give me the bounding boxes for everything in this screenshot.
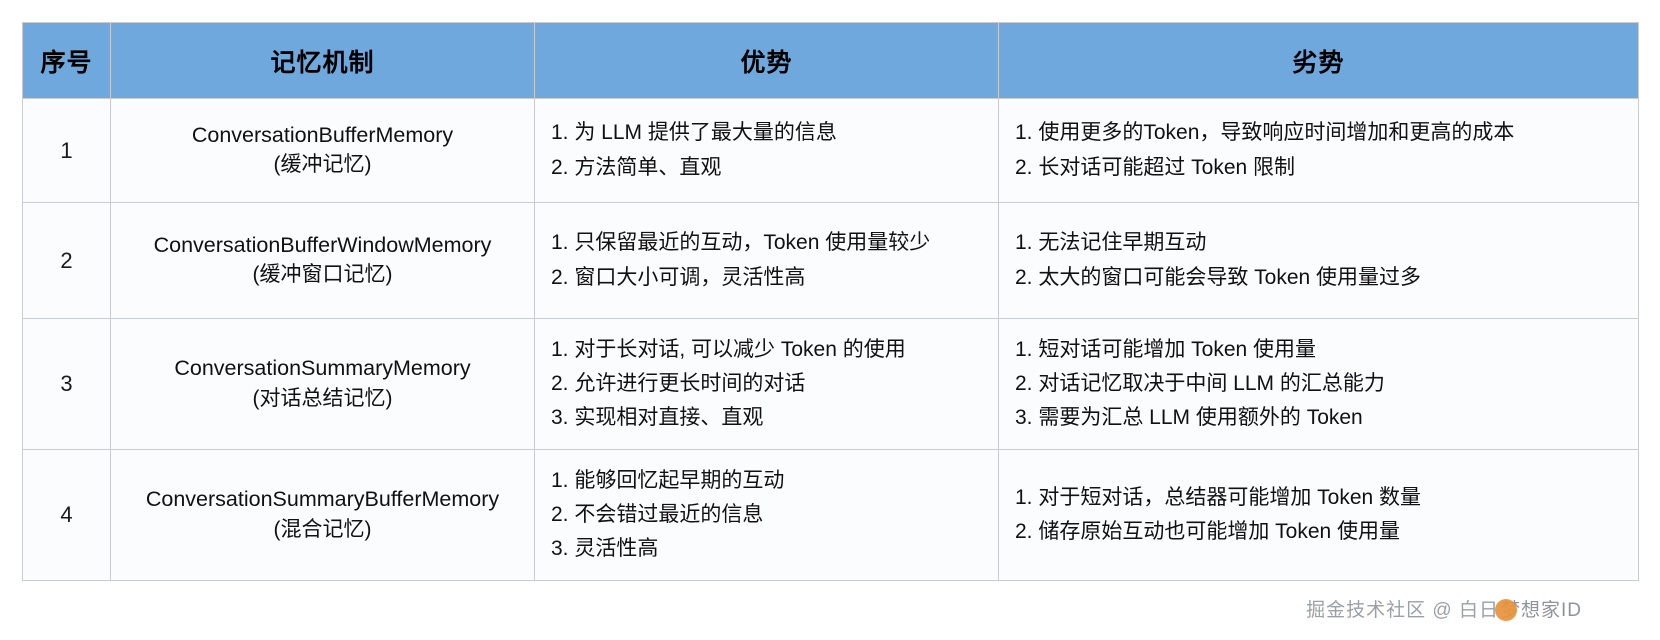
list-item: 2. 方法简单、直观	[551, 151, 982, 185]
list-item: 1. 短对话可能增加 Token 使用量	[1015, 333, 1622, 367]
row-index: 4	[23, 450, 111, 581]
mechanism-name-en: ConversationSummaryMemory	[119, 353, 526, 384]
mechanism-name-en: ConversationBufferMemory	[119, 120, 526, 151]
advantages-list: 1. 对于长对话, 可以减少 Token 的使用 2. 允许进行更长时间的对话 …	[551, 333, 982, 435]
table-header-row: 序号 记忆机制 优势 劣势	[23, 23, 1639, 99]
mechanism-name-cn: (对话总结记忆)	[119, 384, 526, 415]
table-row: 4 ConversationSummaryBufferMemory (混合记忆)…	[23, 450, 1639, 581]
memory-mechanism-table: 序号 记忆机制 优势 劣势 1 ConversationBufferMemory…	[22, 22, 1639, 581]
row-index: 1	[23, 99, 111, 203]
list-item: 3. 需要为汇总 LLM 使用额外的 Token	[1015, 401, 1622, 435]
mechanism-name-en: ConversationBufferWindowMemory	[119, 230, 526, 261]
list-item: 2. 窗口大小可调，灵活性高	[551, 261, 982, 295]
list-item: 1. 为 LLM 提供了最大量的信息	[551, 116, 982, 150]
list-item: 3. 灵活性高	[551, 532, 982, 566]
column-header-mechanism: 记忆机制	[111, 23, 535, 99]
advantages-list: 1. 能够回忆起早期的互动 2. 不会错过最近的信息 3. 灵活性高	[551, 464, 982, 566]
mechanism-name-en: ConversationSummaryBufferMemory	[119, 484, 526, 515]
watermark-prefix: 掘金技术社区 @ 白日	[1306, 595, 1499, 622]
list-item: 1. 无法记住早期互动	[1015, 226, 1622, 260]
row-disadvantages: 1. 无法记住早期互动 2. 太大的窗口可能会导致 Token 使用量过多	[999, 203, 1639, 319]
watermark-logo-icon	[1495, 599, 1517, 621]
table-row: 3 ConversationSummaryMemory (对话总结记忆) 1. …	[23, 319, 1639, 450]
column-header-disadvantages: 劣势	[999, 23, 1639, 99]
row-advantages: 1. 为 LLM 提供了最大量的信息 2. 方法简单、直观	[535, 99, 999, 203]
mechanism-name-cn: (混合记忆)	[119, 515, 526, 546]
mechanism-name-cn: (缓冲记忆)	[119, 150, 526, 181]
list-item: 1. 只保留最近的互动，Token 使用量较少	[551, 226, 982, 260]
row-index: 2	[23, 203, 111, 319]
table-body: 1 ConversationBufferMemory (缓冲记忆) 1. 为 L…	[23, 99, 1639, 581]
row-disadvantages: 1. 使用更多的Token，导致响应时间增加和更高的成本 2. 长对话可能超过 …	[999, 99, 1639, 203]
row-disadvantages: 1. 短对话可能增加 Token 使用量 2. 对话记忆取决于中间 LLM 的汇…	[999, 319, 1639, 450]
list-item: 2. 储存原始互动也可能增加 Token 使用量	[1015, 515, 1622, 549]
disadvantages-list: 1. 短对话可能增加 Token 使用量 2. 对话记忆取决于中间 LLM 的汇…	[1015, 333, 1622, 435]
row-index: 3	[23, 319, 111, 450]
table-page: 序号 记忆机制 优势 劣势 1 ConversationBufferMemory…	[0, 0, 1660, 640]
list-item: 2. 长对话可能超过 Token 限制	[1015, 151, 1622, 185]
list-item: 2. 不会错过最近的信息	[551, 498, 982, 532]
row-mechanism: ConversationSummaryMemory (对话总结记忆)	[111, 319, 535, 450]
watermark: 掘金技术社区 @ 白日 梦想家ID	[1306, 595, 1582, 622]
column-header-index: 序号	[23, 23, 111, 99]
disadvantages-list: 1. 使用更多的Token，导致响应时间增加和更高的成本 2. 长对话可能超过 …	[1015, 116, 1622, 184]
table-row: 2 ConversationBufferWindowMemory (缓冲窗口记忆…	[23, 203, 1639, 319]
row-mechanism: ConversationBufferWindowMemory (缓冲窗口记忆)	[111, 203, 535, 319]
table-row: 1 ConversationBufferMemory (缓冲记忆) 1. 为 L…	[23, 99, 1639, 203]
row-advantages: 1. 只保留最近的互动，Token 使用量较少 2. 窗口大小可调，灵活性高	[535, 203, 999, 319]
list-item: 2. 太大的窗口可能会导致 Token 使用量过多	[1015, 261, 1622, 295]
advantages-list: 1. 只保留最近的互动，Token 使用量较少 2. 窗口大小可调，灵活性高	[551, 226, 982, 294]
disadvantages-list: 1. 无法记住早期互动 2. 太大的窗口可能会导致 Token 使用量过多	[1015, 226, 1622, 294]
row-advantages: 1. 能够回忆起早期的互动 2. 不会错过最近的信息 3. 灵活性高	[535, 450, 999, 581]
table-header: 序号 记忆机制 优势 劣势	[23, 23, 1639, 99]
row-mechanism: ConversationSummaryBufferMemory (混合记忆)	[111, 450, 535, 581]
row-advantages: 1. 对于长对话, 可以减少 Token 的使用 2. 允许进行更长时间的对话 …	[535, 319, 999, 450]
list-item: 3. 实现相对直接、直观	[551, 401, 982, 435]
list-item: 1. 对于长对话, 可以减少 Token 的使用	[551, 333, 982, 367]
advantages-list: 1. 为 LLM 提供了最大量的信息 2. 方法简单、直观	[551, 116, 982, 184]
list-item: 1. 对于短对话，总结器可能增加 Token 数量	[1015, 481, 1622, 515]
mechanism-name-cn: (缓冲窗口记忆)	[119, 260, 526, 291]
list-item: 2. 对话记忆取决于中间 LLM 的汇总能力	[1015, 367, 1622, 401]
list-item: 1. 能够回忆起早期的互动	[551, 464, 982, 498]
column-header-advantages: 优势	[535, 23, 999, 99]
list-item: 2. 允许进行更长时间的对话	[551, 367, 982, 401]
row-disadvantages: 1. 对于短对话，总结器可能增加 Token 数量 2. 储存原始互动也可能增加…	[999, 450, 1639, 581]
list-item: 1. 使用更多的Token，导致响应时间增加和更高的成本	[1015, 116, 1622, 150]
disadvantages-list: 1. 对于短对话，总结器可能增加 Token 数量 2. 储存原始互动也可能增加…	[1015, 481, 1622, 549]
row-mechanism: ConversationBufferMemory (缓冲记忆)	[111, 99, 535, 203]
